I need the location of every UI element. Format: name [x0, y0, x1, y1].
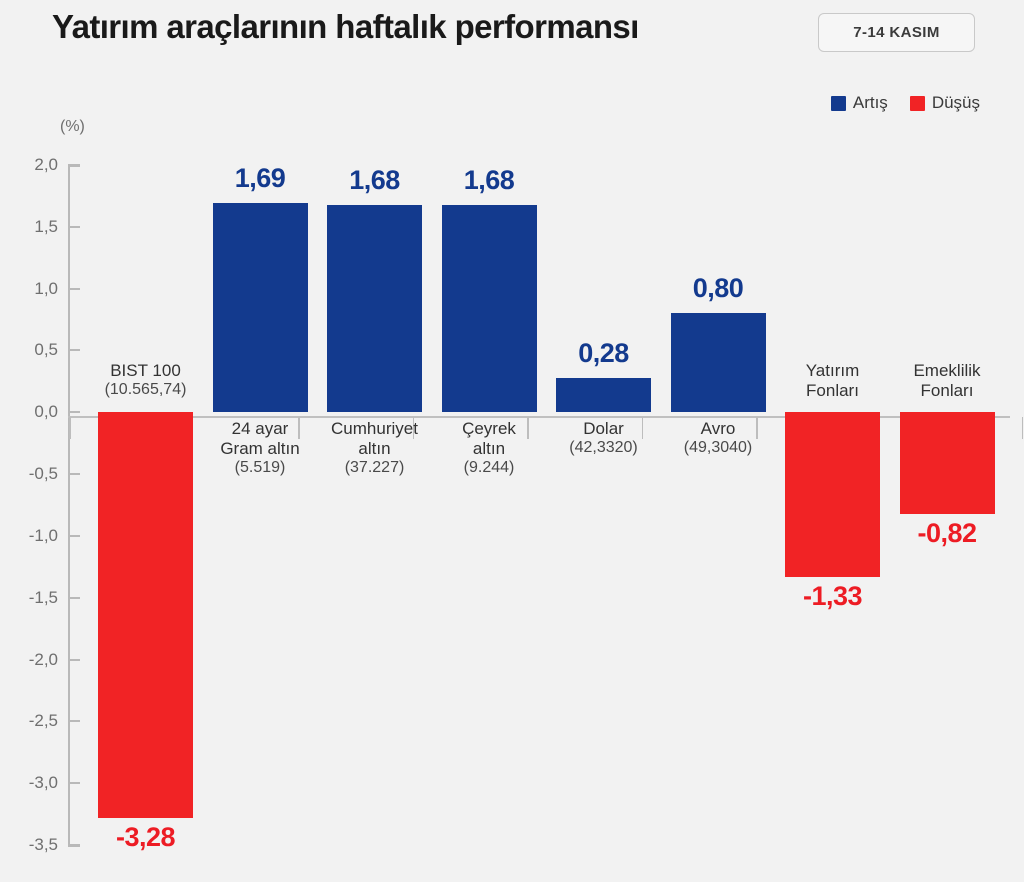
- y-tick-mark: [68, 535, 80, 537]
- y-axis-line: [68, 165, 70, 845]
- y-tick-mark: [68, 720, 80, 722]
- y-tick-mark: [68, 597, 80, 599]
- bar-value-label: 0,80: [649, 273, 788, 304]
- plot-area: (%) 2,01,51,00,50,0-0,5-1,0-1,5-2,0-2,5-…: [0, 0, 1024, 882]
- y-tick-mark: [68, 226, 80, 228]
- y-tick-label: 0,0: [0, 402, 58, 422]
- y-tick-label: 2,0: [0, 155, 58, 175]
- y-tick-label: -2,5: [0, 711, 58, 731]
- bar-8[interactable]: [900, 412, 995, 513]
- y-tick-mark: [68, 164, 80, 166]
- bar-value-label: 0,28: [534, 338, 673, 369]
- y-tick-label: -2,0: [0, 650, 58, 670]
- y-tick-label: -0,5: [0, 464, 58, 484]
- y-tick-label: 1,5: [0, 217, 58, 237]
- axis-unit-label: (%): [60, 118, 85, 136]
- bar-value-label: -1,33: [763, 581, 902, 612]
- y-tick-mark: [68, 659, 80, 661]
- y-tick-mark: [68, 473, 80, 475]
- bar-2[interactable]: [213, 203, 308, 412]
- y-tick-mark: [68, 349, 80, 351]
- y-tick-label: 0,5: [0, 340, 58, 360]
- bar-7[interactable]: [785, 412, 880, 576]
- y-tick-label: -1,5: [0, 588, 58, 608]
- y-tick-label: -3,5: [0, 835, 58, 855]
- bar-value-label: -0,82: [878, 518, 1017, 549]
- y-tick-mark: [68, 782, 80, 784]
- y-tick-label: -1,0: [0, 526, 58, 546]
- category-label: EmeklilikFonları: [880, 361, 1015, 400]
- bar-1[interactable]: [98, 412, 193, 818]
- category-separator: [1022, 417, 1024, 439]
- y-tick-mark: [68, 288, 80, 290]
- category-separator: [69, 417, 71, 439]
- category-label: BIST 100(10.565,74): [78, 361, 213, 399]
- y-tick-mark: [68, 411, 80, 413]
- category-label: Avro(49,3040): [651, 419, 786, 457]
- bar-3[interactable]: [327, 205, 422, 413]
- bar-6[interactable]: [671, 313, 766, 412]
- bar-4[interactable]: [442, 205, 537, 413]
- y-tick-label: 1,0: [0, 279, 58, 299]
- chart-page: Yatırım araçlarının haftalık performansı…: [0, 0, 1024, 882]
- bar-value-label: 1,68: [420, 165, 559, 196]
- bar-5[interactable]: [556, 378, 651, 413]
- y-tick-label: -3,0: [0, 773, 58, 793]
- bar-value-label: -3,28: [76, 822, 215, 853]
